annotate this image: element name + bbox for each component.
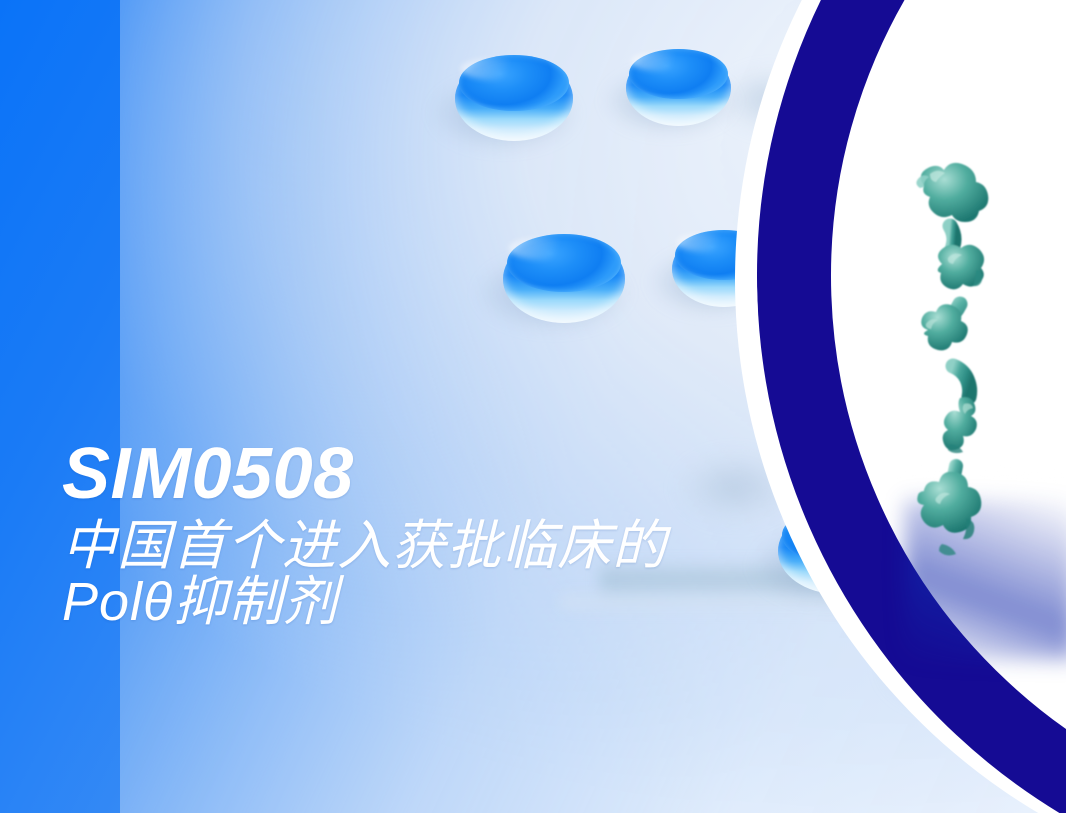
tablet-top-left [455, 56, 573, 141]
subtitle-line-1: 中国首个进入获批临床的 [62, 516, 667, 576]
polymerase-theta-protein-ribbon [890, 158, 1040, 583]
slide-canvas: SIM0508 中国首个进入获批临床的 Polθ抑制剂 [0, 0, 1066, 813]
tablet-middle-left [503, 235, 625, 323]
title-block: SIM0508 中国首个进入获批临床的 Polθ抑制剂 [62, 438, 667, 633]
tablet-rim-highlight [509, 237, 577, 260]
tablet-rim-highlight [631, 52, 690, 72]
tablet-top-right [626, 50, 731, 126]
subtitle-line-2: Polθ抑制剂 [62, 572, 667, 632]
page-title: SIM0508 [62, 438, 667, 510]
tablet-rim-highlight [461, 58, 527, 80]
